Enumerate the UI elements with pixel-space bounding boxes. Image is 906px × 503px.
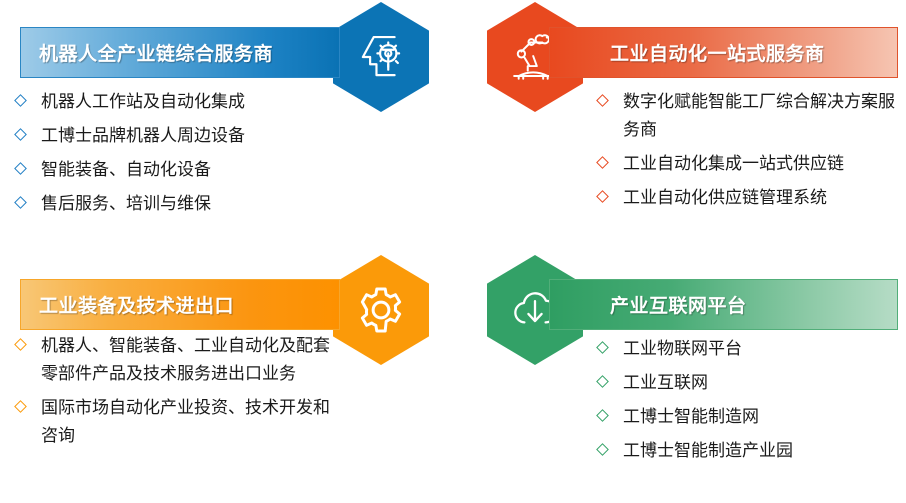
list-item-label: 工业物联网平台 bbox=[623, 339, 742, 358]
list-item: 工博士智能制造产业园 bbox=[598, 437, 898, 465]
diamond-bullet-icon bbox=[596, 94, 609, 107]
list-item-label: 工博士智能制造网 bbox=[623, 407, 759, 426]
list-item-label: 智能装备、自动化设备 bbox=[41, 160, 211, 179]
diamond-bullet-icon bbox=[14, 196, 27, 209]
list-item: 工业物联网平台 bbox=[598, 335, 898, 363]
diamond-bullet-icon bbox=[596, 409, 609, 422]
list-item: 智能装备、自动化设备 bbox=[16, 156, 416, 184]
bullet-list: 机器人工作站及自动化集成 工博士品牌机器人周边设备 智能装备、自动化设备 售后服… bbox=[16, 88, 416, 224]
list-item-label: 工业自动化供应链管理系统 bbox=[623, 188, 827, 207]
diamond-bullet-icon bbox=[14, 94, 27, 107]
list-item: 机器人工作站及自动化集成 bbox=[16, 88, 416, 116]
service-offerings-slide: 机器人全产业链综合服务商 机器人工作站及自动化集成 工博士品牌机器人周边设备 智… bbox=[0, 0, 906, 503]
card-title-bar: 工业装备及技术进出口 bbox=[20, 279, 340, 330]
card-title: 机器人全产业链综合服务商 bbox=[39, 39, 273, 66]
list-item-label: 工业自动化集成一站式供应链 bbox=[623, 154, 844, 173]
list-item: 工业互联网 bbox=[598, 369, 898, 397]
list-item: 工业自动化供应链管理系统 bbox=[598, 184, 903, 212]
diamond-bullet-icon bbox=[14, 400, 27, 413]
list-item: 工业自动化集成一站式供应链 bbox=[598, 150, 903, 178]
card-title-bar: 产业互联网平台 bbox=[549, 279, 898, 330]
diamond-bullet-icon bbox=[596, 341, 609, 354]
list-item: 国际市场自动化产业投资、技术开发和咨询 bbox=[16, 394, 346, 450]
diamond-bullet-icon bbox=[596, 190, 609, 203]
list-item-label: 机器人工作站及自动化集成 bbox=[41, 92, 245, 111]
list-item-label: 国际市场自动化产业投资、技术开发和咨询 bbox=[41, 398, 330, 445]
list-item-label: 工博士品牌机器人周边设备 bbox=[41, 126, 245, 145]
card-title: 产业互联网平台 bbox=[610, 291, 747, 318]
list-item-label: 工博士智能制造产业园 bbox=[623, 441, 793, 460]
list-item: 工博士品牌机器人周边设备 bbox=[16, 122, 416, 150]
card-title: 工业装备及技术进出口 bbox=[39, 291, 234, 318]
diamond-bullet-icon bbox=[14, 338, 27, 351]
list-item: 工博士智能制造网 bbox=[598, 403, 898, 431]
card-title: 工业自动化一站式服务商 bbox=[610, 39, 825, 66]
bullet-list: 机器人、智能装备、工业自动化及配套零部件产品及技术服务进出口业务 国际市场自动化… bbox=[16, 332, 346, 456]
list-item: 数字化赋能智能工厂综合解决方案服务商 bbox=[598, 88, 903, 144]
card-robot-full-chain: 机器人全产业链综合服务商 机器人工作站及自动化集成 工博士品牌机器人周边设备 智… bbox=[0, 0, 453, 251]
list-item-label: 售后服务、培训与维保 bbox=[41, 194, 211, 213]
card-industrial-automation: 工业自动化一站式服务商 数字化赋能智能工厂综合解决方案服务商 工业自动化集成一站… bbox=[453, 0, 906, 251]
card-equipment-import-export: 工业装备及技术进出口 机器人、智能装备、工业自动化及配套零部件产品及技术服务进出… bbox=[0, 251, 453, 503]
diamond-bullet-icon bbox=[14, 128, 27, 141]
list-item-label: 工业互联网 bbox=[623, 373, 708, 392]
list-item-label: 数字化赋能智能工厂综合解决方案服务商 bbox=[623, 92, 895, 139]
bullet-list: 工业物联网平台 工业互联网 工博士智能制造网 工博士智能制造产业园 bbox=[598, 335, 898, 471]
diamond-bullet-icon bbox=[596, 156, 609, 169]
list-item: 售后服务、培训与维保 bbox=[16, 190, 416, 218]
bullet-list: 数字化赋能智能工厂综合解决方案服务商 工业自动化集成一站式供应链 工业自动化供应… bbox=[598, 88, 903, 218]
card-industrial-internet-platform: 产业互联网平台 工业物联网平台 工业互联网 工博士智能制造网 工博士智能制造产业… bbox=[453, 251, 906, 503]
card-title-bar: 机器人全产业链综合服务商 bbox=[20, 27, 340, 78]
diamond-bullet-icon bbox=[596, 375, 609, 388]
diamond-bullet-icon bbox=[14, 162, 27, 175]
card-title-bar: 工业自动化一站式服务商 bbox=[549, 27, 898, 78]
list-item: 机器人、智能装备、工业自动化及配套零部件产品及技术服务进出口业务 bbox=[16, 332, 346, 388]
diamond-bullet-icon bbox=[596, 443, 609, 456]
gear-icon bbox=[333, 255, 429, 365]
list-item-label: 机器人、智能装备、工业自动化及配套零部件产品及技术服务进出口业务 bbox=[41, 336, 330, 383]
